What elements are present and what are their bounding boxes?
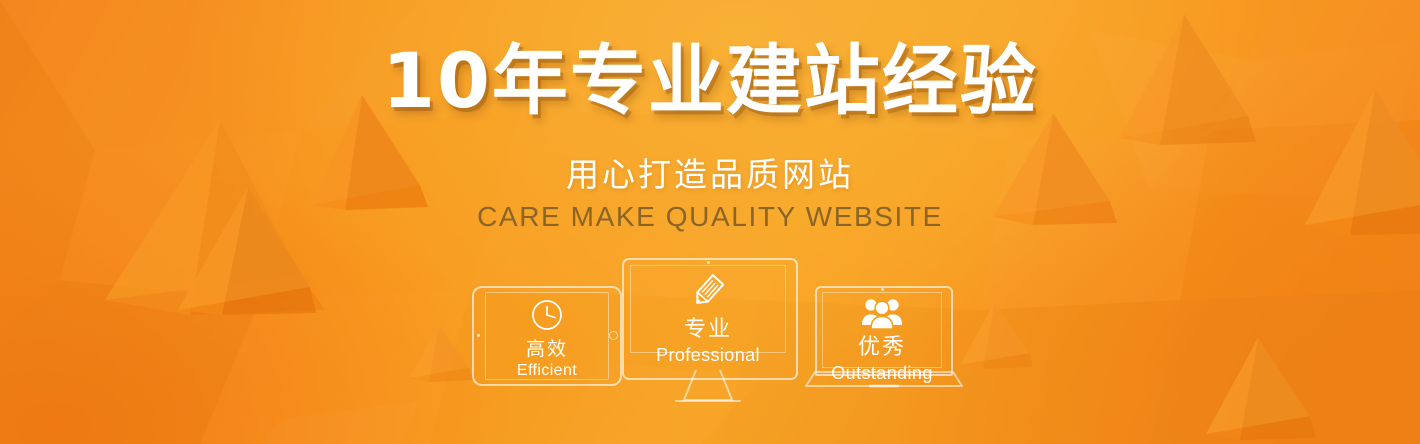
feature-card-professional: 专业 Professional	[622, 258, 794, 393]
tablet-home-button	[609, 331, 618, 340]
subtitle-cn-container: 用心打造品质网站	[0, 155, 1420, 195]
laptop-screen	[822, 292, 942, 368]
subtitle-en-container: CARE MAKE QUALITY WEBSITE	[0, 200, 1420, 234]
feature-devices-row: 高效 Efficient	[0, 248, 1420, 418]
monitor-camera-dot	[707, 261, 710, 264]
tablet-screen	[485, 292, 609, 380]
banner-subtitle-english: CARE MAKE QUALITY WEBSITE	[477, 200, 943, 234]
promo-banner: 10年专业建站经验 用心打造品质网站 CARE MAKE QUALITY WEB…	[0, 0, 1420, 444]
feature-card-efficient: 高效 Efficient	[472, 286, 622, 386]
banner-subtitle-chinese: 用心打造品质网站	[566, 155, 854, 195]
monitor-stand	[622, 370, 794, 410]
headline-container: 10年专业建站经验	[0, 38, 1420, 124]
feature-card-outstanding: 优秀 Outstanding	[806, 286, 958, 390]
monitor-screen	[630, 265, 786, 353]
tablet-camera-dot	[477, 334, 480, 337]
banner-headline: 10年专业建站经验	[382, 38, 1038, 124]
laptop-base	[804, 370, 964, 396]
laptop-camera-dot	[881, 288, 884, 291]
